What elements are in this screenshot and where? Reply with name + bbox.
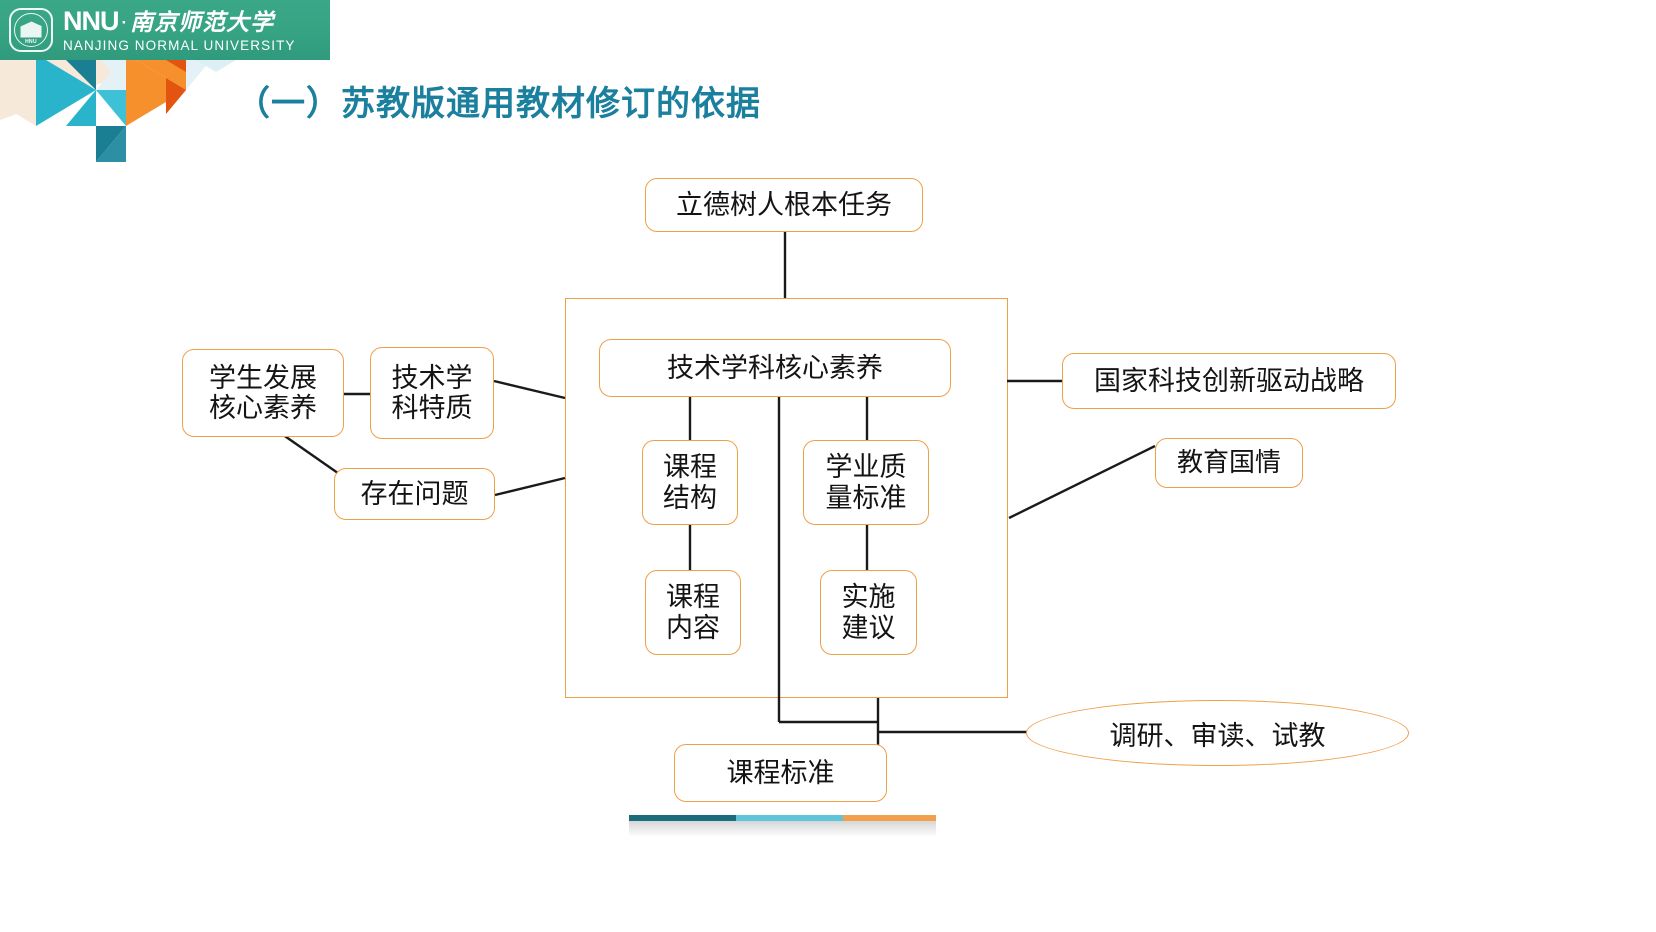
node-education-situation[interactable]: 教育国情: [1155, 438, 1303, 488]
page-title: （一）苏教版通用教材修订的依据: [236, 76, 761, 125]
node-course-structure[interactable]: 课程 结构: [642, 440, 738, 525]
node-curriculum-standard[interactable]: 课程标准: [674, 744, 887, 802]
node-discipline-trait[interactable]: 技术学 科特质: [370, 347, 494, 439]
brand-header-bar: HNU NNU·南京师范大学 NANJING NORMAL UNIVERSITY: [0, 0, 330, 60]
node-top-task[interactable]: 立德树人根本任务: [645, 178, 923, 232]
brand-dot: ·: [119, 13, 131, 32]
university-seal-icon: HNU: [9, 8, 53, 52]
brand-text: NNU·南京师范大学 NANJING NORMAL UNIVERSITY: [63, 8, 296, 53]
brand-english-name: NANJING NORMAL UNIVERSITY: [63, 39, 296, 53]
seal-abbr-text: HNU: [25, 39, 37, 45]
brand-title-line: NNU·南京师范大学: [63, 8, 296, 35]
brand-abbr: NNU: [63, 6, 119, 36]
node-course-content[interactable]: 课程 内容: [645, 570, 741, 655]
node-existing-problem[interactable]: 存在问题: [334, 468, 495, 520]
node-student-development[interactable]: 学生发展 核心素养: [182, 349, 344, 437]
node-research-review-trial[interactable]: 调研、审读、试教: [1026, 700, 1409, 766]
slide-canvas: HNU NNU·南京师范大学 NANJING NORMAL UNIVERSITY…: [0, 0, 1656, 932]
node-core-literacy[interactable]: 技术学科核心素养: [599, 339, 951, 397]
node-national-strategy[interactable]: 国家科技创新驱动战略: [1062, 353, 1396, 409]
brand-chinese-name: 南京师范大学: [130, 10, 274, 35]
node-academic-quality[interactable]: 学业质 量标准: [803, 440, 929, 525]
node-implementation-advice[interactable]: 实施 建议: [820, 570, 917, 655]
